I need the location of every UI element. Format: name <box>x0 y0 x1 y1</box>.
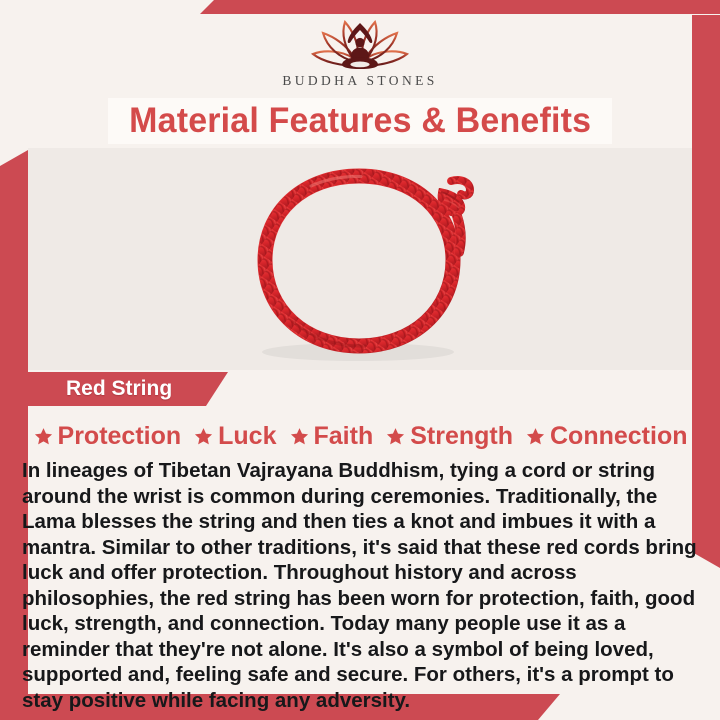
brand-logo: BUDDHA STONES <box>0 14 720 94</box>
benefit-item: Luck <box>193 422 276 451</box>
star-icon <box>385 426 406 447</box>
star-icon <box>193 426 214 447</box>
star-icon <box>525 426 546 447</box>
benefit-label: Connection <box>550 422 688 451</box>
product-label-text: Red String <box>66 377 172 401</box>
benefit-label: Strength <box>410 422 513 451</box>
description-block: In lineages of Tibetan Vajrayana Buddhis… <box>22 458 704 713</box>
page-title-text: Material Features & Benefits <box>129 101 591 141</box>
benefit-label: Faith <box>314 422 374 451</box>
benefit-label: Luck <box>218 422 276 451</box>
benefit-item: Protection <box>33 422 182 451</box>
page-title: Material Features & Benefits <box>108 98 612 144</box>
red-braided-string-bracelet-image <box>225 154 495 370</box>
frame-top-bar <box>200 0 720 14</box>
benefit-item: Strength <box>385 422 513 451</box>
benefit-item: Faith <box>289 422 374 451</box>
star-icon <box>33 426 54 447</box>
brand-name: BUDDHA STONES <box>282 73 437 89</box>
star-icon <box>289 426 310 447</box>
infographic-page: BUDDHA STONES Material Features & Benefi… <box>0 0 720 720</box>
benefit-label: Protection <box>58 422 182 451</box>
product-label-ribbon: Red String <box>28 372 228 406</box>
benefits-row: Protection Luck Faith Strength Connectio… <box>28 416 692 456</box>
lotus-meditation-figure-icon <box>301 14 419 72</box>
benefit-item: Connection <box>525 422 688 451</box>
description-text: In lineages of Tibetan Vajrayana Buddhis… <box>22 458 704 713</box>
product-image-stage <box>28 148 692 370</box>
